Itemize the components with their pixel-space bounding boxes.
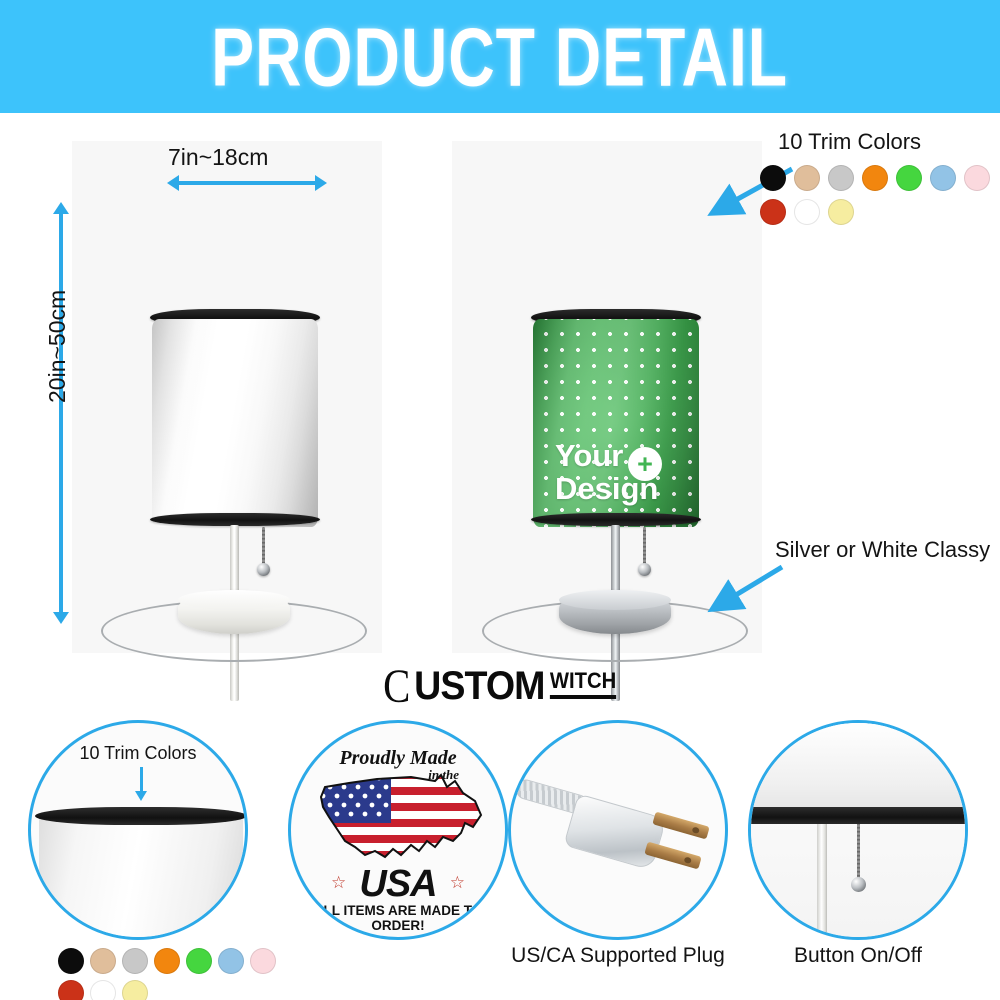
page-header-banner: PRODUCT DETAIL bbox=[0, 0, 1000, 113]
usa-star-right-icon: ☆ bbox=[450, 873, 465, 893]
button-on-off-circle bbox=[748, 720, 968, 940]
swatch-tan[interactable] bbox=[90, 948, 116, 974]
mini-trim-colors-label: 10 Trim Colors bbox=[31, 743, 245, 764]
base-finish-callout-arrow bbox=[700, 561, 790, 621]
base-finish-callout-label: Silver or White Classy bbox=[775, 537, 990, 563]
swatch-pink[interactable] bbox=[250, 948, 276, 974]
swatch-white[interactable] bbox=[794, 199, 820, 225]
brand-logo-mark: C bbox=[383, 667, 408, 707]
usa-flag-map-icon bbox=[315, 771, 487, 875]
swatch-green[interactable] bbox=[186, 948, 212, 974]
lamp-green-pull-chain[interactable] bbox=[643, 527, 646, 565]
width-dimension-arrow bbox=[178, 181, 316, 185]
mini-trim-arrow-shaft bbox=[140, 767, 143, 793]
usa-subtitle-text: ALL ITEMS ARE MADE TO ORDER! bbox=[291, 903, 505, 933]
plug-body bbox=[563, 793, 666, 870]
height-dimension-arrow bbox=[59, 213, 63, 613]
swatch-tan[interactable] bbox=[794, 165, 820, 191]
swatch-light-blue[interactable] bbox=[930, 165, 956, 191]
height-dimension-label: 20in~50cm bbox=[44, 290, 71, 403]
design-line-2: Design bbox=[555, 472, 699, 505]
lamp-white-chain-ball[interactable] bbox=[257, 563, 270, 576]
plug-prong-hole bbox=[684, 856, 692, 864]
made-in-usa-circle: Proudly Made in the bbox=[288, 720, 508, 940]
swatch-pink[interactable] bbox=[964, 165, 990, 191]
swatch-orange[interactable] bbox=[154, 948, 180, 974]
lamp-white-pull-chain[interactable] bbox=[262, 527, 265, 565]
swatch-black[interactable] bbox=[760, 165, 786, 191]
closeup-trim bbox=[748, 807, 968, 824]
swatch-white[interactable] bbox=[90, 980, 116, 1000]
mini-trim-arrow-head bbox=[135, 791, 147, 801]
trim-colors-callout-label: 10 Trim Colors bbox=[778, 129, 921, 155]
plug-circle bbox=[508, 720, 728, 940]
swatch-yellow[interactable] bbox=[122, 980, 148, 1000]
trim-colors-circle: 10 Trim Colors bbox=[28, 720, 248, 940]
shade-sheen bbox=[152, 319, 318, 527]
lamp-white-shade bbox=[152, 319, 318, 527]
plug-label: US/CA Supported Plug bbox=[488, 944, 748, 968]
lamp-green-chain-ball[interactable] bbox=[638, 563, 651, 576]
lamp-green-base bbox=[559, 590, 671, 634]
swatch-red[interactable] bbox=[58, 980, 84, 1000]
usa-proudly-made-text: Proudly Made bbox=[291, 747, 505, 770]
product-detail-page: PRODUCT DETAIL bbox=[0, 0, 1000, 1000]
add-design-plus-icon[interactable]: + bbox=[628, 447, 662, 481]
width-dimension-label: 7in~18cm bbox=[168, 144, 268, 171]
closeup-shade bbox=[748, 723, 968, 809]
closeup-chain-ball[interactable] bbox=[851, 877, 866, 892]
plug-prong-bottom bbox=[644, 842, 701, 870]
plug-prong-hole bbox=[692, 826, 700, 834]
page-title: PRODUCT DETAIL bbox=[212, 9, 789, 103]
feature-row: 10 Trim Colors Proudly Made in t bbox=[0, 712, 1000, 1000]
swatch-gray[interactable] bbox=[828, 165, 854, 191]
lamp-white-base-top bbox=[178, 590, 290, 610]
product-showcase: Your Design + 7in~18cm 20in~50cm 10 Trim… bbox=[0, 113, 1000, 660]
lamp-green-base-top bbox=[559, 590, 671, 610]
brand-logo-primary: USTOM bbox=[414, 664, 544, 709]
lamp-green-shade: Your Design + bbox=[533, 319, 699, 527]
swatch-gray[interactable] bbox=[122, 948, 148, 974]
closeup-pull-chain[interactable] bbox=[857, 824, 860, 880]
usa-word-text: USA bbox=[291, 863, 505, 906]
mini-lamp-shade bbox=[39, 815, 243, 940]
lamp-white-base bbox=[178, 590, 290, 634]
button-on-off-label: Button On/Off bbox=[728, 944, 988, 968]
swatch-light-blue[interactable] bbox=[218, 948, 244, 974]
swatch-black[interactable] bbox=[58, 948, 84, 974]
your-design-text: Your Design bbox=[533, 439, 699, 505]
closeup-pole bbox=[817, 824, 827, 940]
trim-color-swatches-bottom bbox=[58, 948, 288, 1000]
brand-logo: C USTOM WITCH bbox=[0, 664, 1000, 709]
trim-color-swatches-top bbox=[760, 165, 1000, 225]
swatch-red[interactable] bbox=[760, 199, 786, 225]
swatch-green[interactable] bbox=[896, 165, 922, 191]
swatch-yellow[interactable] bbox=[828, 199, 854, 225]
mini-lamp-trim bbox=[35, 807, 247, 825]
design-line-1: Your bbox=[555, 439, 699, 472]
brand-logo-secondary: WITCH bbox=[550, 668, 616, 699]
swatch-orange[interactable] bbox=[862, 165, 888, 191]
